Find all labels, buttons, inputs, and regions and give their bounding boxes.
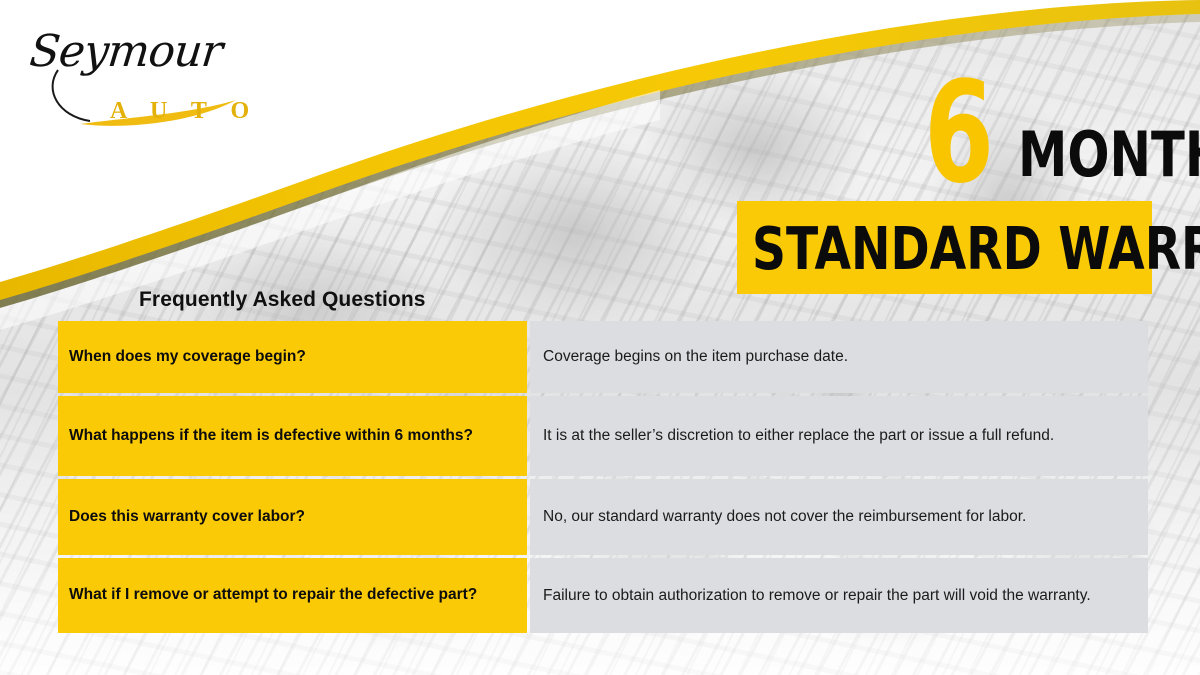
faq-answer-cell: Coverage begins on the item purchase dat… [530,321,1148,393]
faq-question-text: What happens if the item is defective wi… [69,426,473,447]
faq-question-text: What if I remove or attempt to repair th… [69,585,477,606]
faq-answer-cell: No, our standard warranty does not cover… [530,479,1148,555]
seymour-auto-logo: Seymour A U T O [22,18,252,130]
standard-warranty-banner-text: STANDARD WARRANTY [752,219,1200,278]
faq-answer-cell: Failure to obtain authorization to remov… [530,558,1148,633]
warranty-duration-number: 6 [924,64,993,204]
faq-table: When does my coverage begin? Coverage be… [58,321,1148,624]
logo-subtitle: A U T O [110,98,258,125]
faq-answer-text: Failure to obtain authorization to remov… [543,585,1136,606]
faq-heading: Frequently Asked Questions [139,288,426,312]
faq-question-text: When does my coverage begin? [69,347,306,368]
logo-wordmark: Seymour [27,26,224,77]
warranty-duration-unit: MONTH [1018,124,1200,186]
table-row: What if I remove or attempt to repair th… [58,558,1148,633]
faq-answer-text: No, our standard warranty does not cover… [543,506,1136,527]
faq-question-cell: When does my coverage begin? [58,321,527,393]
table-row: What happens if the item is defective wi… [58,396,1148,476]
faq-question-text: Does this warranty cover labor? [69,507,305,528]
faq-answer-text: It is at the seller’s discretion to eith… [543,425,1136,446]
faq-question-cell: What if I remove or attempt to repair th… [58,558,527,633]
standard-warranty-banner: STANDARD WARRANTY [737,201,1152,294]
table-row: When does my coverage begin? Coverage be… [58,321,1148,393]
faq-question-cell: Does this warranty cover labor? [58,479,527,555]
faq-answer-cell: It is at the seller’s discretion to eith… [530,396,1148,476]
faq-answer-text: Coverage begins on the item purchase dat… [543,346,1136,367]
warranty-slide: Seymour A U T O 6 MONTH STANDARD WARRANT… [0,0,1200,675]
faq-question-cell: What happens if the item is defective wi… [58,396,527,476]
table-row: Does this warranty cover labor? No, our … [58,479,1148,555]
